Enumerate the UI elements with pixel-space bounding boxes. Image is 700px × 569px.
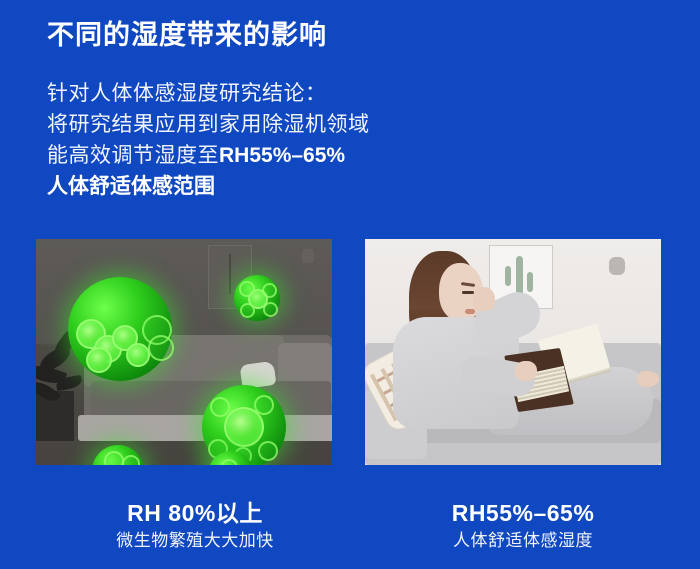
microbe-icon [234, 275, 280, 321]
dark-room-scene [36, 239, 332, 465]
microbe-icon [68, 277, 172, 381]
wall-speaker-icon [302, 249, 314, 263]
page-title: 不同的湿度带来的影响 [47, 17, 327, 53]
woman-eye-shape [462, 291, 474, 294]
caption-right-title: RH55%–65% [363, 498, 683, 528]
woman-foot-shape [637, 371, 659, 387]
photo-comfort-humidity [365, 239, 661, 465]
body-line-1: 针对人体体感湿度研究结论： [47, 78, 370, 109]
body-paragraph: 针对人体体感湿度研究结论： 将研究结果应用到家用除湿机领域 能高效调节湿度至RH… [47, 78, 370, 202]
caption-right-subtitle: 人体舒适体感湿度 [363, 528, 683, 554]
body-line-2: 将研究结果应用到家用除湿机领域 [47, 109, 370, 140]
woman-lips-shape [465, 309, 475, 314]
caption-left-subtitle: 微生物繁殖大大加快 [35, 528, 355, 554]
microbe-icon [202, 385, 286, 465]
bright-room-scene [365, 239, 661, 465]
woman-hand-shape [515, 361, 537, 381]
photo-high-humidity [36, 239, 332, 465]
body-line-3-prefix: 能高效调节湿度至 [47, 144, 219, 167]
microbe-icon [92, 445, 144, 465]
caption-right: RH55%–65% 人体舒适体感湿度 [363, 498, 683, 554]
body-line-4: 人体舒适体感范围 [47, 171, 370, 202]
caption-left: RH 80%以上 微生物繁殖大大加快 [35, 498, 355, 554]
body-line-3: 能高效调节湿度至RH55%–65% [47, 140, 370, 171]
humidity-range-highlight: RH55%–65% [219, 144, 345, 167]
wall-speaker-icon [609, 257, 625, 275]
woman-hand-shape [473, 287, 495, 311]
caption-left-title: RH 80%以上 [35, 498, 355, 528]
slide-root: 不同的湿度带来的影响 针对人体体感湿度研究结论： 将研究结果应用到家用除湿机领域… [0, 0, 700, 569]
